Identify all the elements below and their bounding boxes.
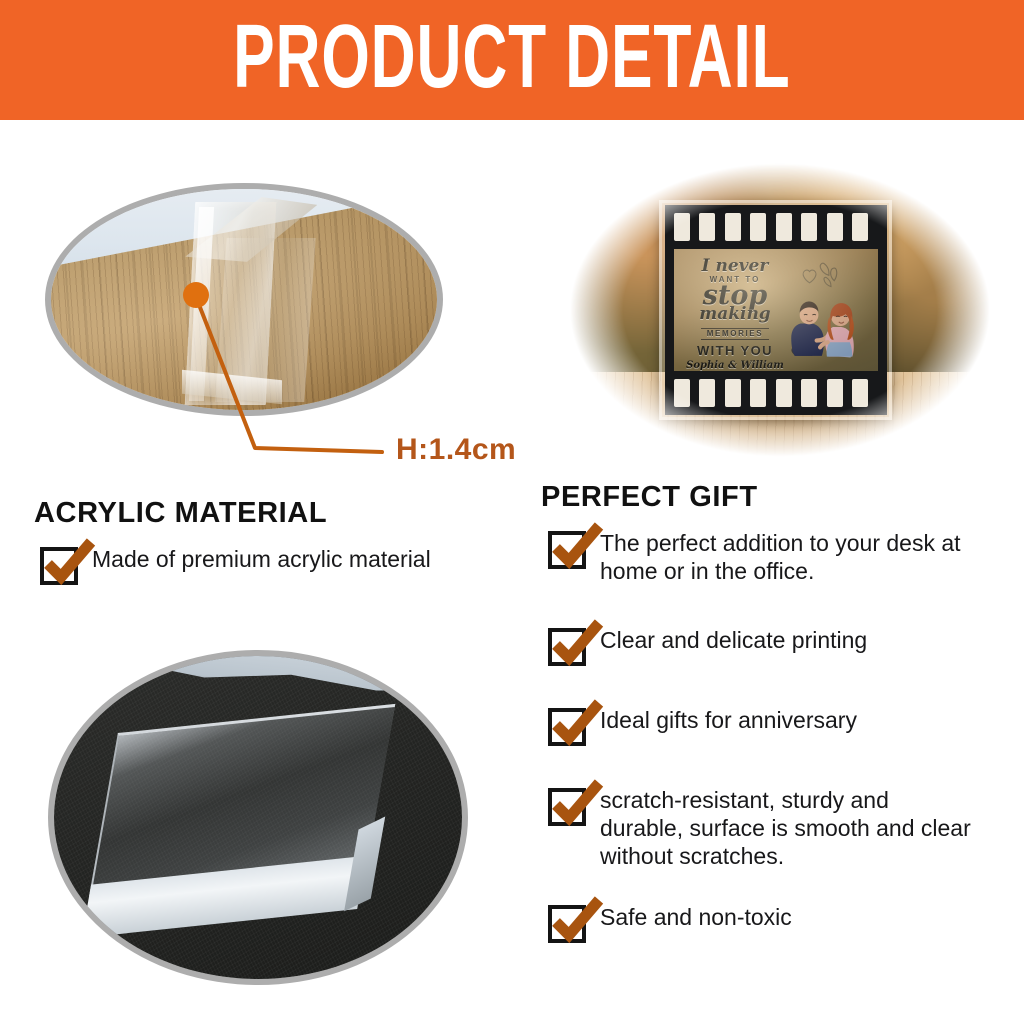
quote-line-3: stop [682,284,788,308]
list-item-label: Safe and non-toxic [600,903,792,931]
quote-line-5: MEMORIES [701,328,769,340]
film-sprocket-holes-bottom [665,379,887,406]
check-icon [549,778,605,834]
dimension-label: H:1.4cm [396,433,516,467]
checkbox-checked [548,531,586,569]
film-sprocket-holes-top [665,213,887,240]
film-strip-artwork: I never WANT TO stop making MEMORIES WIT… [665,205,887,415]
thickness-marker-dot [183,282,209,308]
check-icon [549,895,605,951]
photo-acrylic-block [48,650,468,985]
photo-product-plaque: I never WANT TO stop making MEMORIES WIT… [568,162,992,458]
list-item: The perfect addition to your desk at hom… [548,529,972,585]
check-icon [549,618,605,674]
list-item: Clear and delicate printing [548,626,867,666]
quote-line-1: I never [682,258,788,276]
checkbox-checked [548,628,586,666]
check-icon [549,698,605,754]
list-item: scratch-resistant, sturdy and durable, s… [548,786,972,870]
header-banner: PRODUCT DETAIL [0,0,1024,120]
product-detail-infographic: PRODUCT DETAIL H:1.4cm [0,0,1024,1024]
film-photo-window: I never WANT TO stop making MEMORIES WIT… [674,249,878,371]
list-item: Safe and non-toxic [548,903,792,943]
section-title-perfect-gift: PERFECT GIFT [541,481,758,514]
acrylic-plaque: I never WANT TO stop making MEMORIES WIT… [659,200,892,419]
heart-wings-doodle [776,256,866,310]
quote-line-6: WITH YOU [682,344,788,358]
check-icon [549,521,605,577]
list-item-label: Clear and delicate printing [600,626,867,654]
check-icon [41,537,97,593]
list-item: Ideal gifts for anniversary [548,706,857,746]
checkbox-checked [40,547,78,585]
checkbox-checked [548,788,586,826]
checkbox-checked [548,708,586,746]
quote-line-4: making [682,306,788,324]
list-item-label: scratch-resistant, sturdy and durable, s… [600,786,972,870]
quote-line-2: WANT TO [682,276,788,284]
acrylic-edge-scene [51,189,437,410]
acrylic-block [82,704,394,938]
couple-names: Sophia & William [682,361,788,371]
photo-acrylic-edge [45,183,443,416]
checkbox-checked [548,905,586,943]
cartoon-couple-illustration [770,271,872,371]
page-title: PRODUCT DETAIL [233,13,790,107]
plaque-quote: I never WANT TO stop making MEMORIES WIT… [682,258,788,371]
section-title-acrylic-material: ACRYLIC MATERIAL [34,497,327,530]
list-item: Made of premium acrylic material [40,545,431,585]
list-item-label: The perfect addition to your desk at hom… [600,529,972,585]
list-item-label: Made of premium acrylic material [92,545,431,573]
list-item-label: Ideal gifts for anniversary [600,706,857,734]
